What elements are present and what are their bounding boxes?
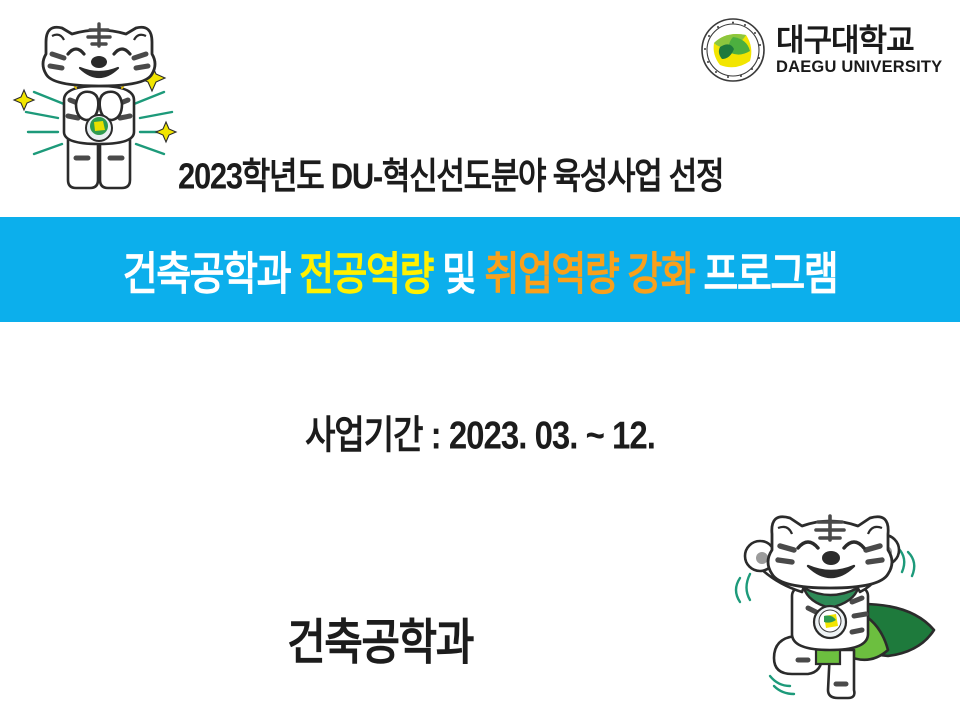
banner-segment-3: 및 <box>433 250 485 300</box>
university-wordmark: 대구대학교 DAEGU UNIVERSITY <box>776 25 942 76</box>
program-title-banner: 건축공학과 전공역량 및 취업역량 강화 프로그램 <box>0 217 960 322</box>
program-period: 사업기간 : 2023. 03. ~ 12. <box>0 404 960 461</box>
daegu-university-emblem-icon <box>700 17 766 83</box>
tiger-mascot-cheering <box>6 8 192 198</box>
banner-segment-2: 전공역량 <box>299 250 433 300</box>
banner-segment-1: 건축공학과 <box>123 250 299 300</box>
program-title-text: 건축공학과 전공역량 및 취업역량 강화 프로그램 <box>123 237 838 303</box>
department-name: 건축공학과 <box>130 603 630 674</box>
page-headline: 2023학년도 DU-혁신선도분야 육성사업 선정 <box>178 146 723 199</box>
poster-canvas: 대구대학교 DAEGU UNIVERSITY 2023학년도 DU-혁신선도분야… <box>0 0 960 720</box>
tiger-mascot-superhero <box>712 500 956 720</box>
university-name-en: DAEGU UNIVERSITY <box>776 59 942 76</box>
banner-segment-5: 프로그램 <box>694 250 837 300</box>
banner-segment-4: 취업역량 강화 <box>485 250 695 300</box>
university-logo: 대구대학교 DAEGU UNIVERSITY <box>700 14 940 86</box>
university-name-kr: 대구대학교 <box>776 25 942 56</box>
